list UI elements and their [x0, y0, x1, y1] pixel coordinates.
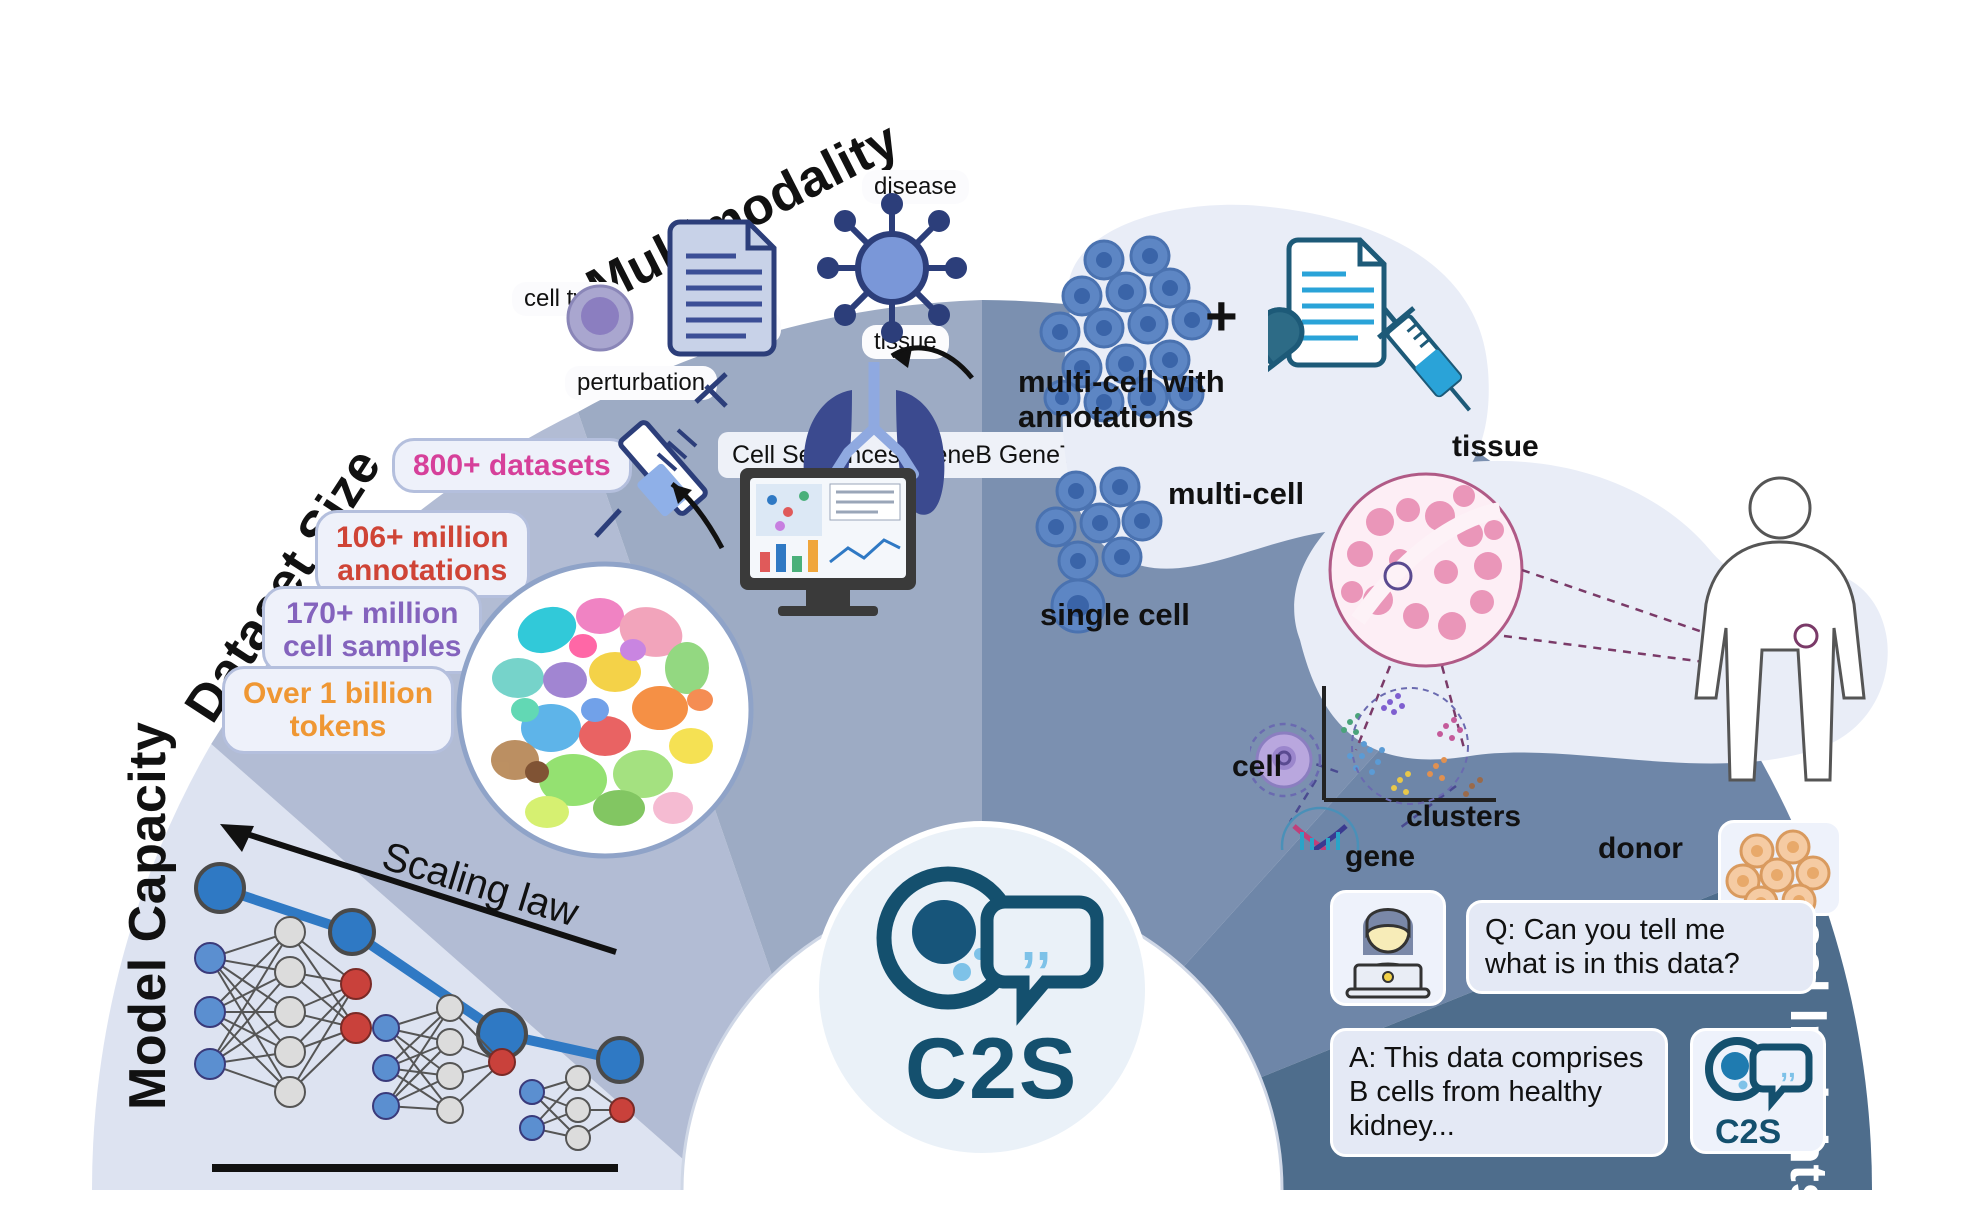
monitor-group — [600, 430, 940, 650]
label-single-cell: single cell — [1040, 598, 1190, 633]
flow-arrow-top — [892, 348, 972, 378]
stat-tokens: Over 1 billion tokens — [222, 666, 454, 754]
clusters-scatter — [1324, 686, 1496, 800]
label-clusters: clusters — [1406, 800, 1521, 834]
monitor-icon — [740, 468, 916, 616]
user-avatar-icon — [1333, 893, 1443, 1003]
label-cell: cell — [1232, 750, 1282, 784]
tissue-icon — [1330, 474, 1522, 666]
c2s-logo-card: ,, C2S — [1690, 1028, 1826, 1154]
svg-text:,,: ,, — [1021, 912, 1051, 972]
document-icon — [670, 222, 774, 354]
user-avatar-card — [1330, 890, 1446, 1006]
scaling-law-chart — [150, 780, 710, 1200]
label-gene: gene — [1345, 840, 1415, 874]
scales-illustration — [1250, 450, 1910, 850]
c2s-wordmark: C2S — [905, 1020, 1078, 1119]
label-donor: donor — [1598, 832, 1683, 866]
c2s-logo-icon: ,, — [1693, 1031, 1823, 1117]
svg-text:,,: ,, — [1780, 1052, 1796, 1083]
label-multi-cell-with-annotations: multi-cell with annotations — [1018, 365, 1225, 434]
infographic-canvas: ,, C2S Model Capacity Dataset Size Multi… — [0, 0, 1964, 1198]
cell-icon — [568, 286, 632, 350]
stat-cell-samples: 170+ million cell samples — [262, 586, 482, 674]
c2s-card-label: C2S — [1715, 1113, 1781, 1152]
document-icon — [1289, 240, 1384, 365]
plus-icon: + — [1205, 285, 1238, 348]
virus-icon — [820, 196, 964, 340]
donor-icon — [1696, 478, 1864, 780]
clusters-points — [1341, 688, 1483, 804]
question-bubble: Q: Can you tell me what is in this data? — [1466, 900, 1816, 994]
flow-arrow-bottom — [672, 484, 722, 548]
answer-bubble: A: This data comprises B cells from heal… — [1330, 1028, 1668, 1157]
